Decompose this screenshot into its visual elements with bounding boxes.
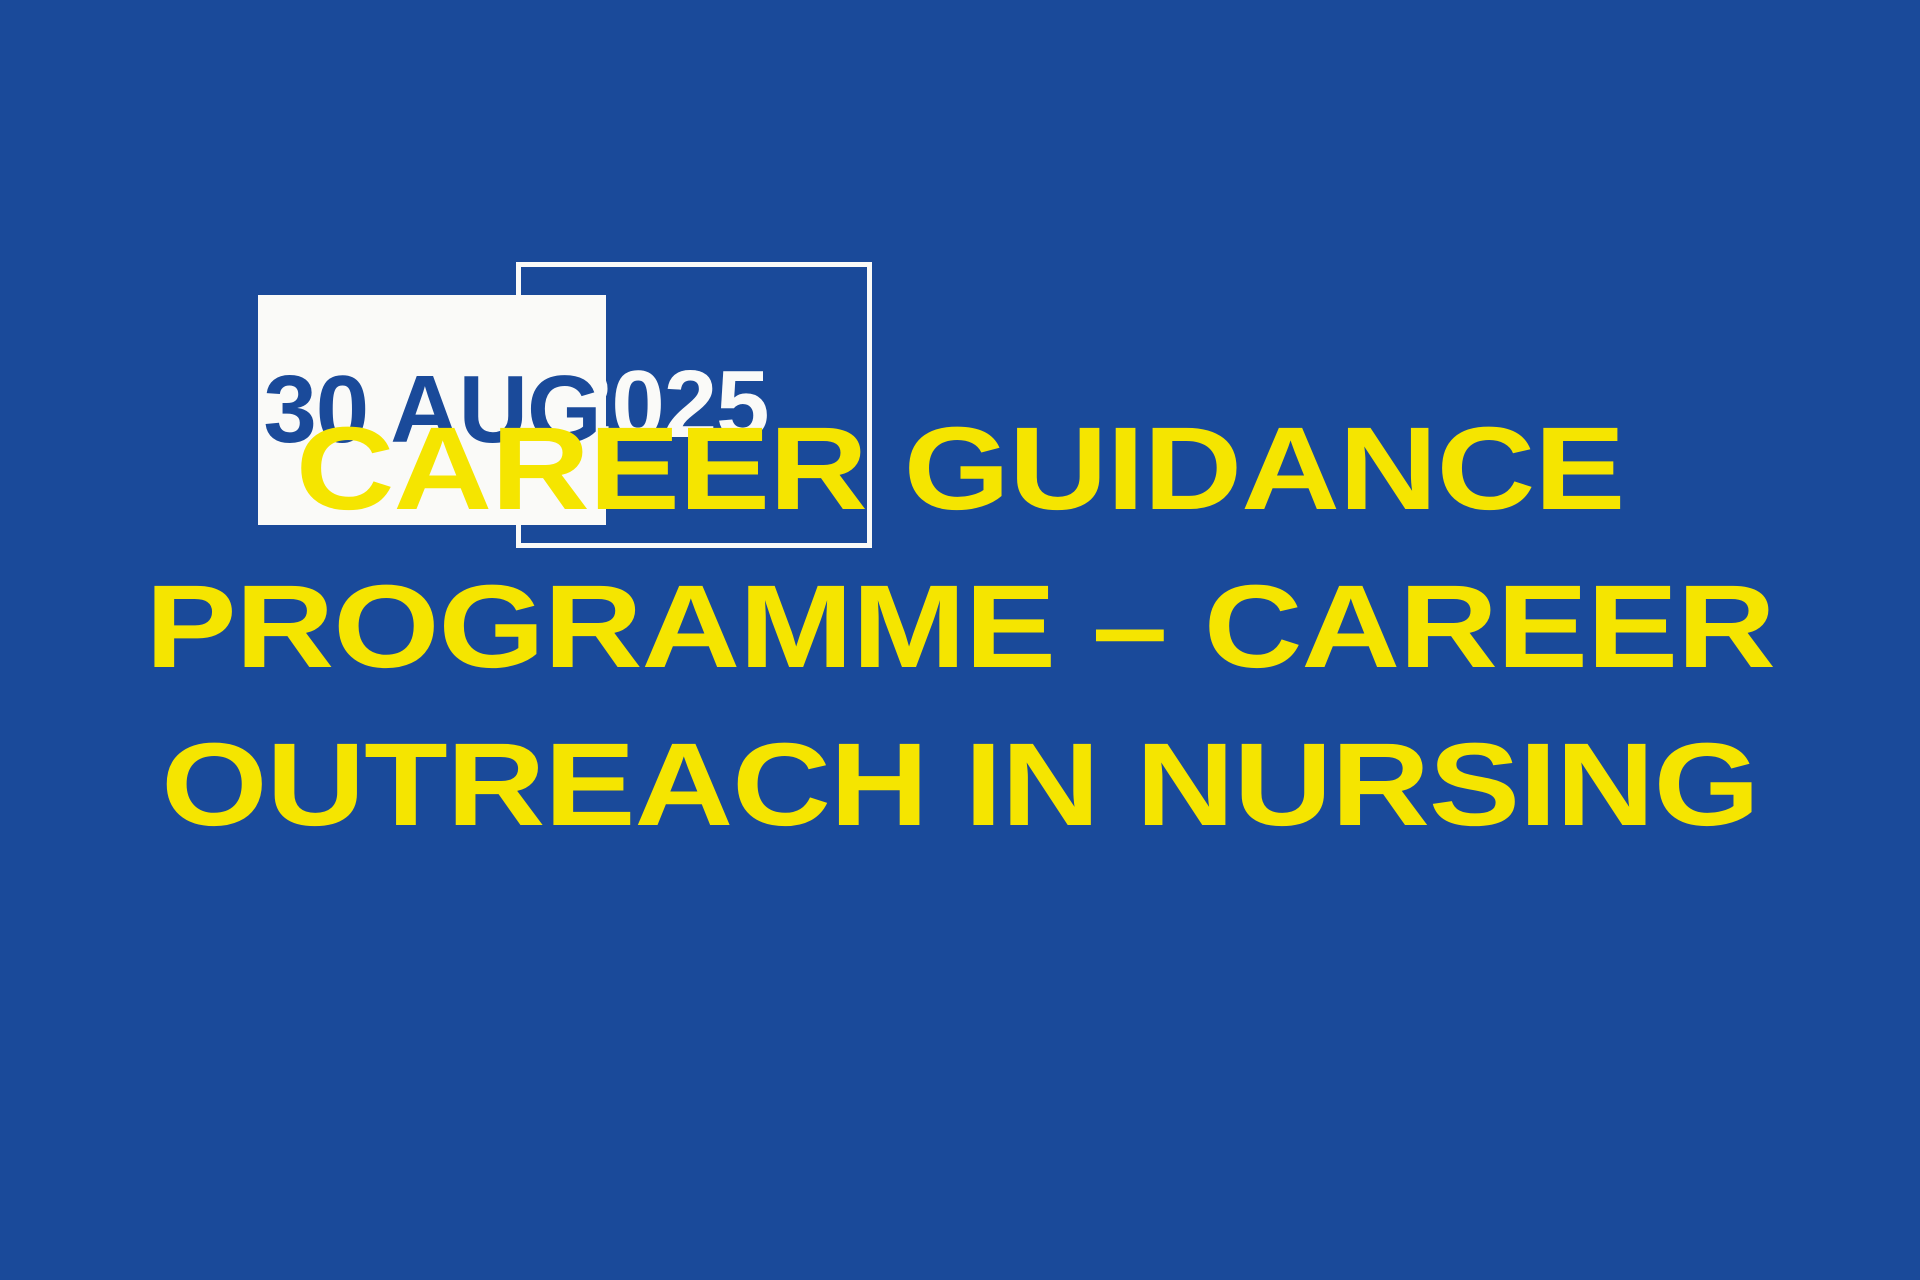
- page-title: CAREER GUIDANCE PROGRAMME – CAREER OUTRE…: [0, 390, 1920, 864]
- headline-line-3: OUTREACH IN NURSING: [0, 706, 1920, 864]
- headline-line-1: CAREER GUIDANCE: [0, 390, 1920, 548]
- headline-line-2: PROGRAMME – CAREER: [0, 548, 1920, 706]
- poster-canvas: 2025 30 AUG CAREER GUIDANCE PROGRAMME – …: [0, 0, 1920, 1280]
